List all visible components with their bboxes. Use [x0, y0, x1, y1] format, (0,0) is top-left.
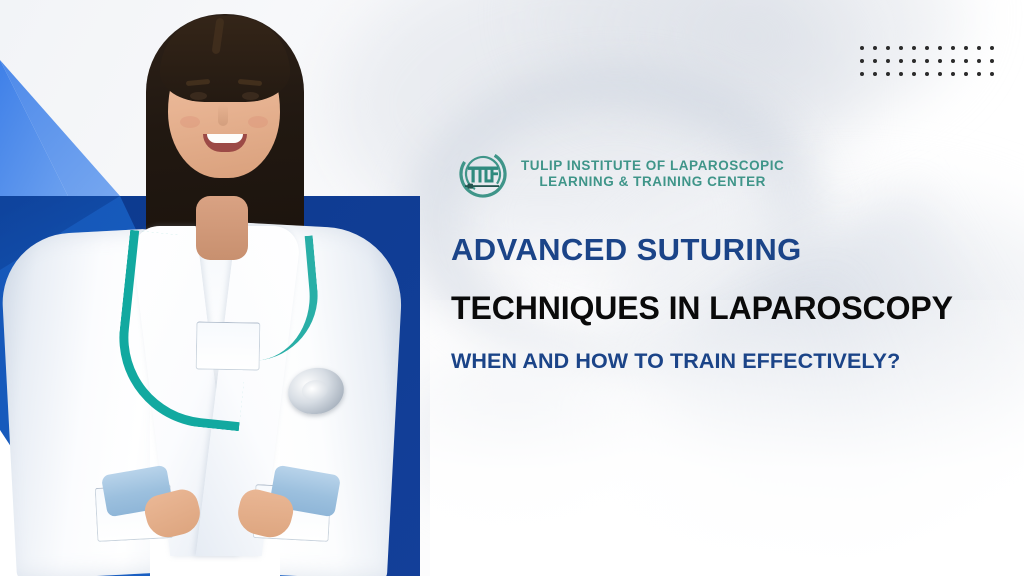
dot — [912, 59, 916, 63]
dot — [977, 72, 981, 76]
dot — [990, 59, 994, 63]
dot — [938, 59, 942, 63]
dot — [977, 46, 981, 50]
dot — [886, 59, 890, 63]
dot — [990, 72, 994, 76]
hair-front — [160, 16, 290, 102]
dot — [938, 72, 942, 76]
dot — [860, 59, 864, 63]
dot — [964, 46, 968, 50]
dot — [964, 59, 968, 63]
dot — [951, 72, 955, 76]
headline-line-2: TECHNIQUES IN LAPAROSCOPY — [451, 290, 1021, 327]
tillt-circular-logo-icon — [457, 148, 509, 200]
cheek-left — [180, 116, 200, 128]
promo-banner: TULIP INSTITUTE OF LAPAROSCOPIC LEARNING… — [0, 0, 1024, 576]
dot — [886, 72, 890, 76]
dot — [873, 46, 877, 50]
eye-right — [242, 92, 259, 100]
eye-left — [190, 92, 207, 100]
dot — [925, 72, 929, 76]
coat-pocket-chest — [196, 321, 261, 370]
dot — [873, 72, 877, 76]
dot — [860, 72, 864, 76]
dot — [925, 59, 929, 63]
dot — [873, 59, 877, 63]
headline-block: ADVANCED SUTURING TECHNIQUES IN LAPAROSC… — [451, 232, 1021, 374]
headline-line-3: WHEN AND HOW TO TRAIN EFFECTIVELY? — [451, 349, 1021, 374]
dot — [899, 46, 903, 50]
logo-text-line-1: TULIP INSTITUTE OF LAPAROSCOPIC — [521, 158, 784, 174]
dot-grid-pattern — [860, 46, 1003, 85]
nose — [218, 104, 228, 126]
dot — [860, 46, 864, 50]
dot — [951, 59, 955, 63]
dot — [899, 72, 903, 76]
dot — [990, 46, 994, 50]
dot — [886, 46, 890, 50]
dot — [977, 59, 981, 63]
dot — [925, 46, 929, 50]
dot — [938, 46, 942, 50]
dot — [912, 46, 916, 50]
dot — [899, 59, 903, 63]
dot — [951, 46, 955, 50]
dot — [964, 72, 968, 76]
institute-logo: TULIP INSTITUTE OF LAPAROSCOPIC LEARNING… — [457, 148, 784, 200]
headline-line-1: ADVANCED SUTURING — [451, 232, 1021, 268]
dot — [912, 72, 916, 76]
doctor-photo — [0, 0, 430, 576]
cheek-right — [248, 116, 268, 128]
logo-text-line-2: LEARNING & TRAINING CENTER — [539, 174, 766, 190]
